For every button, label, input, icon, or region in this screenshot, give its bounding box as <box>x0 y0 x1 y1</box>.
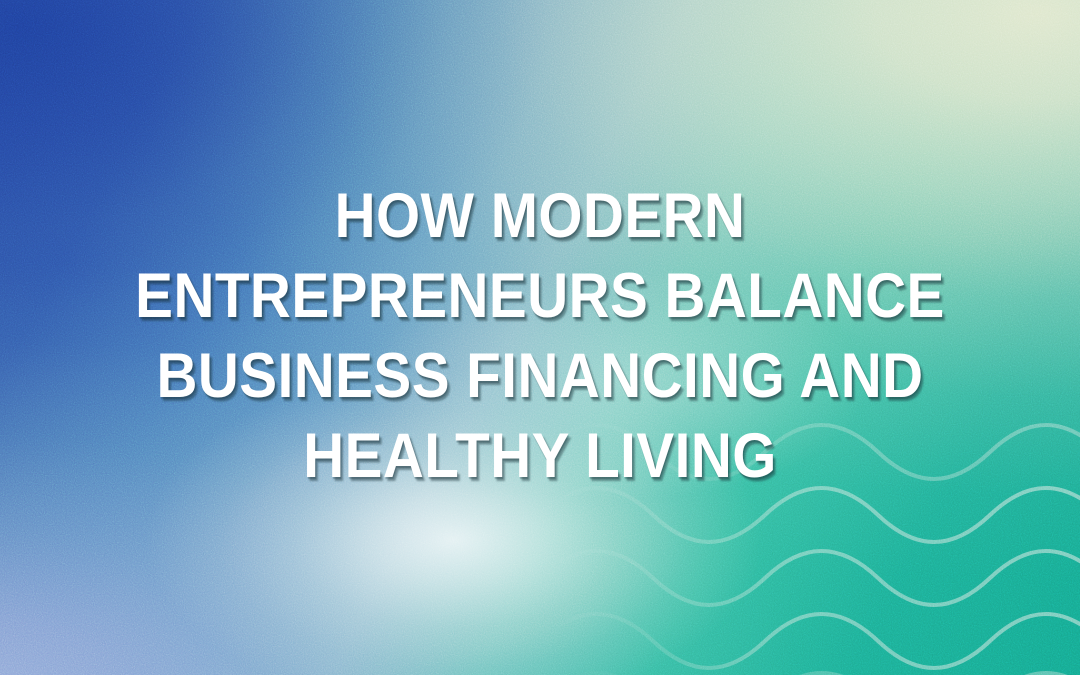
headline-line-3: BUSINESS FINANCING AND <box>74 336 1006 416</box>
headline-block: HOW MODERN ENTREPRENEURS BALANCE BUSINES… <box>0 176 1080 496</box>
headline-line-1: HOW MODERN <box>74 176 1006 256</box>
headline-line-2: ENTREPRENEURS BALANCE <box>74 256 1006 336</box>
headline-line-4: HEALTHY LIVING <box>74 416 1006 496</box>
hero-banner: HOW MODERN ENTREPRENEURS BALANCE BUSINES… <box>0 0 1080 675</box>
